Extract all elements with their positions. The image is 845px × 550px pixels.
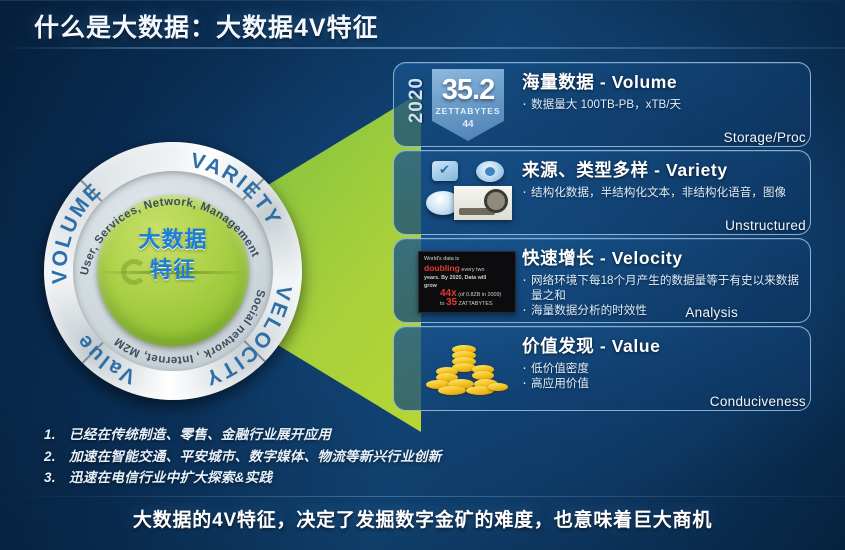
media-types-icons bbox=[404, 151, 516, 235]
application-list: 1. 已经在传统制造、零售、金融行业展开应用 2. 加速在智能交通、平安城市、数… bbox=[44, 424, 474, 489]
volume-zettabytes-badge-icon: 2020 35.2 ZETTABYTES 44 bbox=[404, 63, 516, 147]
badge-unit: ZETTABYTES bbox=[432, 106, 504, 116]
bullet: 结构化数据，半结构化文本，非结构化语音，图像 bbox=[522, 185, 802, 200]
growth-stat-card: World's data is doubling every two years… bbox=[418, 251, 516, 313]
feature-panel-list: 2020 35.2 ZETTABYTES 44 海量数据 - Volume 数据… bbox=[393, 62, 811, 414]
list-item-label: 迅速在电信行业中扩大探索&实践 bbox=[69, 467, 272, 489]
title-divider bbox=[0, 47, 845, 49]
list-item-number: 3. bbox=[44, 467, 60, 489]
badge-number: 35.2 bbox=[432, 74, 504, 106]
panel-velocity-tag: Analysis bbox=[685, 305, 738, 320]
panel-velocity-bullets: 网络环境下每18个月产生的数据量等于有史以来数据量之和 海量数据分析的时效性 bbox=[522, 273, 802, 318]
panel-volume-bullets: 数据量大 100TB-PB，xTB/天 bbox=[522, 97, 802, 112]
list-item-label: 已经在传统制造、零售、金融行业展开应用 bbox=[69, 424, 331, 446]
panel-variety-tag: Unstructured bbox=[725, 218, 806, 233]
panel-variety[interactable]: 来源、类型多样 - Variety 结构化数据，半结构化文本，非结构化语音，图像… bbox=[393, 150, 811, 235]
panel-value[interactable]: 价值发现 - Value 低价值密度 高应用价值 Conduciveness bbox=[393, 326, 811, 411]
growth-line-6-pre: to bbox=[440, 301, 445, 307]
film-projector-icon bbox=[454, 186, 512, 220]
bullet: 海量数据分析的时效性 bbox=[522, 303, 802, 318]
core-label: 大数据 特征 bbox=[97, 225, 249, 285]
list-item-label: 加速在智能交通、平安城市、数字媒体、物流等新兴行业创新 bbox=[69, 446, 442, 468]
badge-sub: 44 bbox=[432, 119, 504, 131]
list-item: 1. 已经在传统制造、零售、金融行业展开应用 bbox=[44, 424, 474, 446]
panel-velocity-title: 快速增长 - Velocity bbox=[522, 245, 802, 270]
coin-stack bbox=[422, 339, 514, 399]
growth-line-5-rest: (of 0.8ZB in 2009) bbox=[458, 292, 501, 298]
panel-volume[interactable]: 2020 35.2 ZETTABYTES 44 海量数据 - Volume 数据… bbox=[393, 62, 811, 147]
footer-divider bbox=[0, 496, 845, 497]
panel-value-tag: Conduciveness bbox=[710, 394, 806, 409]
data-growth-card-icon: World's data is doubling every two years… bbox=[404, 239, 516, 323]
top-highlight-line bbox=[0, 0, 845, 1]
list-item-number: 2. bbox=[44, 446, 60, 468]
growth-line-3: years. By 2020, Data will bbox=[424, 274, 511, 282]
panel-velocity[interactable]: World's data is doubling every two years… bbox=[393, 238, 811, 323]
core-label-line2: 特征 bbox=[97, 255, 249, 285]
four-v-circle-diagram: 大数据 特征 VOLUME VARIETY VELOCITY Value bbox=[44, 142, 302, 400]
panel-value-bullets: 低价值密度 高应用价值 bbox=[522, 361, 802, 391]
growth-line-6-rest: ZATTABYTES bbox=[459, 301, 493, 307]
panel-variety-bullets: 结构化数据，半结构化文本，非结构化语音，图像 bbox=[522, 185, 802, 200]
badge-shield: 35.2 ZETTABYTES 44 bbox=[432, 69, 504, 141]
core-label-line1: 大数据 bbox=[97, 225, 249, 255]
list-item-number: 1. bbox=[44, 424, 60, 446]
list-item: 3. 迅速在电信行业中扩大探索&实践 bbox=[44, 467, 474, 489]
panel-volume-title: 海量数据 - Volume bbox=[522, 69, 802, 94]
footer-caption: 大数据的4V特征，决定了发掘数字金矿的难度，也意味着巨大商机 bbox=[0, 505, 845, 532]
eye-disc-icon bbox=[476, 161, 504, 182]
document-check-icon bbox=[432, 161, 458, 181]
growth-doubling: doubling bbox=[424, 263, 460, 273]
bullet: 低价值密度 bbox=[522, 361, 802, 376]
panel-value-title: 价值发现 - Value bbox=[522, 333, 802, 358]
list-item: 2. 加速在智能交通、平安城市、数字媒体、物流等新兴行业创新 bbox=[44, 446, 474, 468]
growth-line-6: to 35 ZATTABYTES bbox=[424, 299, 511, 308]
circle-core: 大数据 特征 bbox=[97, 195, 249, 347]
bullet: 网络环境下每18个月产生的数据量等于有史以来数据量之和 bbox=[522, 273, 802, 303]
badge-year: 2020 bbox=[406, 77, 428, 123]
page-title: 什么是大数据：大数据4V特征 bbox=[34, 8, 379, 44]
panel-variety-title: 来源、类型多样 - Variety bbox=[522, 157, 802, 182]
bullet: 数据量大 100TB-PB，xTB/天 bbox=[522, 97, 802, 112]
growth-line-2-rest: every two bbox=[461, 267, 484, 273]
panel-volume-tag: Storage/Proc bbox=[724, 130, 806, 145]
panel-velocity-body: 快速增长 - Velocity 网络环境下每18个月产生的数据量等于有史以来数据… bbox=[522, 245, 802, 318]
growth-line-5: 44x (of 0.8ZB in 2009) bbox=[424, 290, 511, 299]
gold-coins-icon bbox=[404, 327, 516, 411]
growth-line-4: grow bbox=[424, 282, 511, 290]
growth-total: 35 bbox=[446, 297, 457, 308]
growth-line-2: doubling every two bbox=[424, 264, 511, 274]
bullet: 高应用价值 bbox=[522, 376, 802, 391]
